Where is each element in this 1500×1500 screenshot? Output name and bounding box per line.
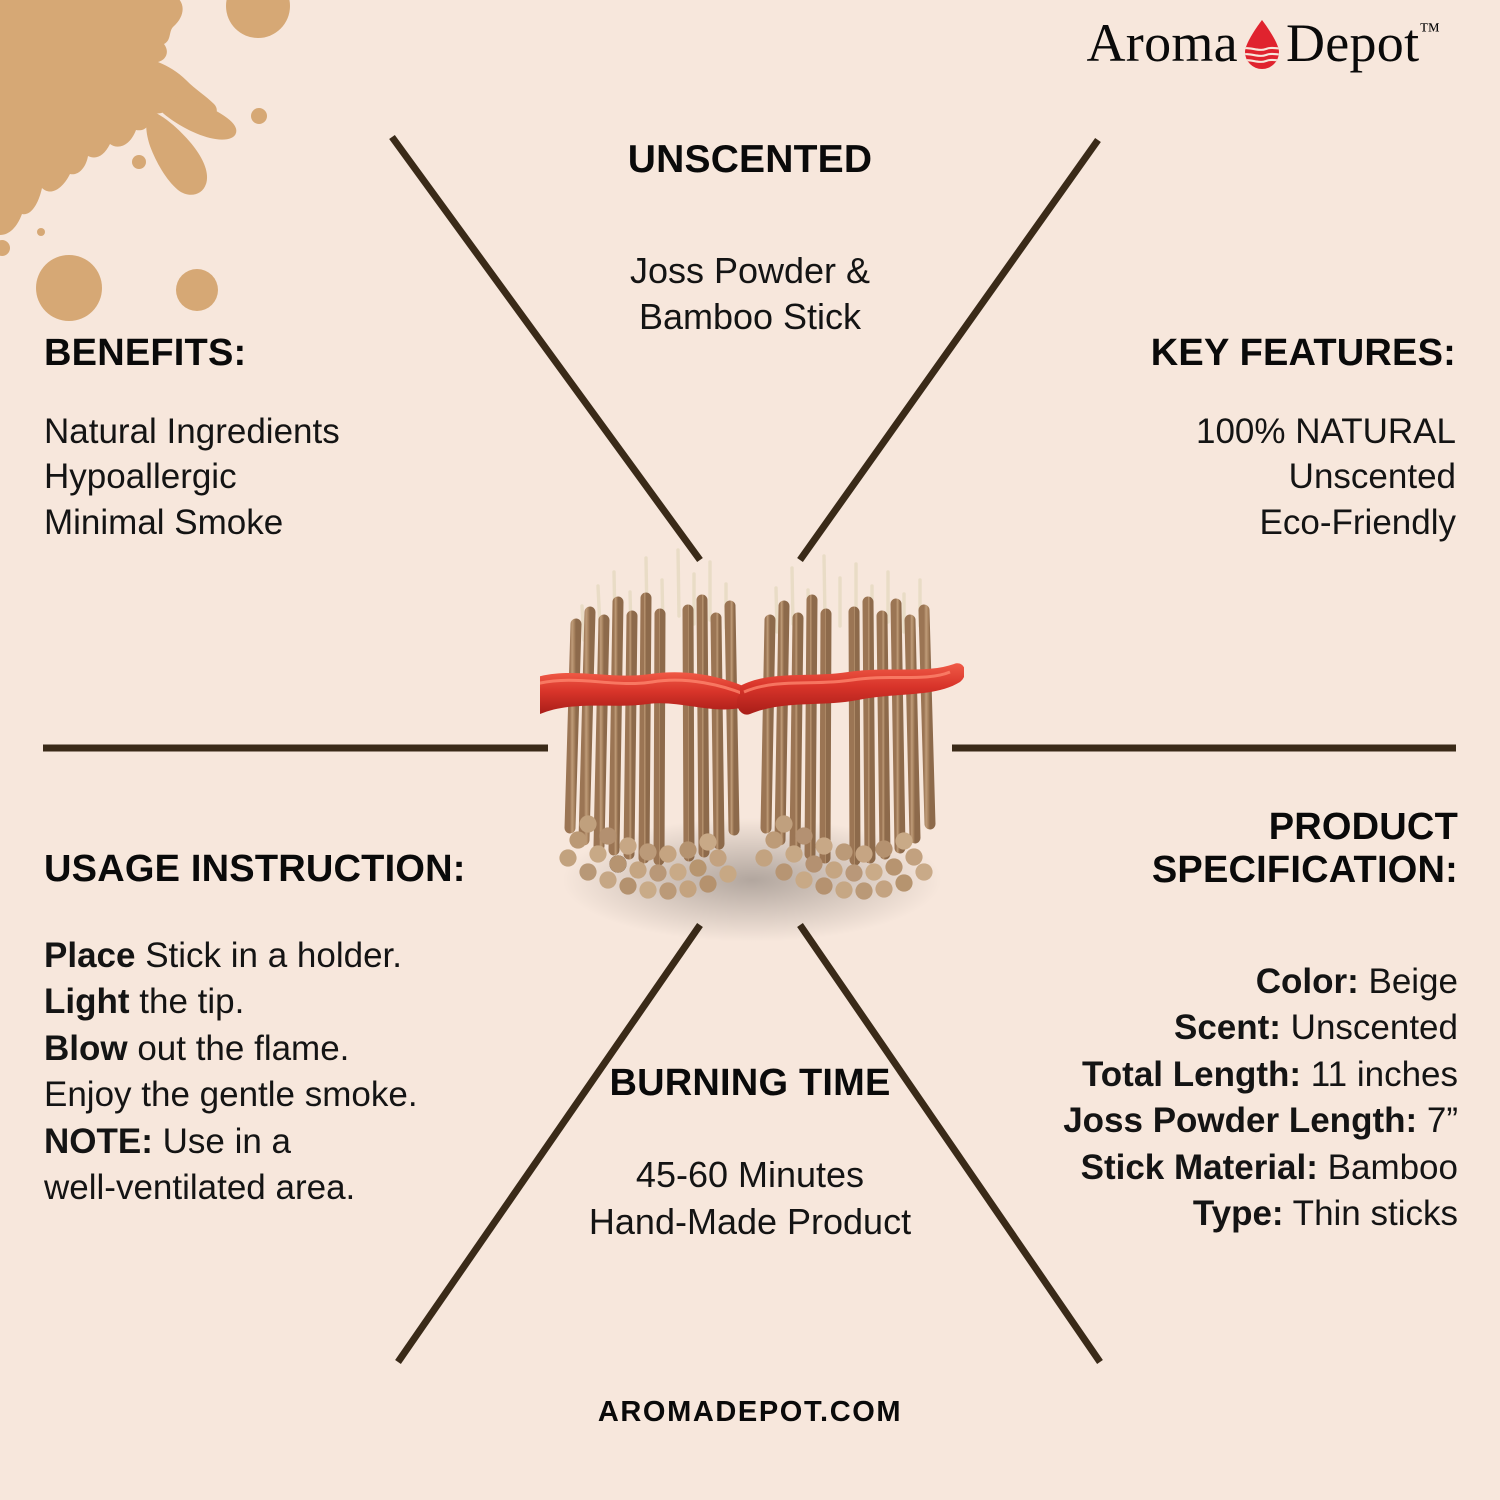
- spec-row-scent: Scent: Unscented: [1063, 1005, 1458, 1052]
- unscented-line-2: Bamboo Stick: [470, 294, 1030, 341]
- usage-step-2-keyword: Light: [44, 982, 130, 1021]
- logo-text-depot: Depot: [1286, 16, 1419, 70]
- usage-step-3-text: out the flame.: [128, 1029, 350, 1068]
- benefits-item-3: Minimal Smoke: [44, 500, 340, 546]
- usage-step-6-text: well-ventilated area.: [44, 1168, 355, 1207]
- usage-step-5: NOTE: Use in a: [44, 1119, 466, 1166]
- key-features-title: KEY FEATURES:: [1151, 332, 1456, 375]
- usage-step-5-text: Use in a: [153, 1122, 291, 1161]
- product-image-incense-bundles: [540, 528, 964, 948]
- spec-label-total-length: Total Length:: [1082, 1055, 1301, 1094]
- section-product-specification: PRODUCT SPECIFICATION: Color: Beige Scen…: [1063, 806, 1458, 1238]
- spec-label-type: Type:: [1193, 1194, 1284, 1233]
- spec-value-type: Thin sticks: [1284, 1194, 1458, 1233]
- logo-text-aroma: Aroma: [1086, 16, 1237, 70]
- product-specification-title: PRODUCT SPECIFICATION:: [1063, 806, 1458, 893]
- spec-row-total-length: Total Length: 11 inches: [1063, 1052, 1458, 1099]
- benefits-item-2: Hypoallergic: [44, 454, 340, 500]
- spec-value-joss-powder-length: 7”: [1417, 1101, 1458, 1140]
- usage-step-4: Enjoy the gentle smoke.: [44, 1072, 466, 1119]
- usage-step-2-text: the tip.: [130, 982, 245, 1021]
- usage-instruction-title: USAGE INSTRUCTION:: [44, 848, 466, 891]
- spec-row-color: Color: Beige: [1063, 959, 1458, 1006]
- infographic-canvas: Aroma Depot ™: [0, 0, 1500, 1500]
- usage-step-1-text: Stick in a holder.: [135, 936, 402, 975]
- section-unscented: UNSCENTED Joss Powder & Bamboo Stick: [470, 138, 1030, 341]
- usage-step-6: well-ventilated area.: [44, 1165, 466, 1212]
- trademark-symbol: ™: [1419, 20, 1440, 41]
- usage-step-1: Place Stick in a holder.: [44, 933, 466, 980]
- key-features-item-3: Eco-Friendly: [1151, 500, 1456, 546]
- usage-step-2: Light the tip.: [44, 979, 466, 1026]
- usage-step-3: Blow out the flame.: [44, 1026, 466, 1073]
- burning-time-title: BURNING TIME: [470, 1062, 1030, 1105]
- usage-step-4-text: Enjoy the gentle smoke.: [44, 1075, 418, 1114]
- spec-row-joss-powder-length: Joss Powder Length: 7”: [1063, 1098, 1458, 1145]
- section-benefits: BENEFITS: Natural Ingredients Hypoallerg…: [44, 332, 340, 545]
- key-features-item-1: 100% NATURAL: [1151, 409, 1456, 455]
- spec-label-joss-powder-length: Joss Powder Length:: [1063, 1101, 1417, 1140]
- spec-row-type: Type: Thin sticks: [1063, 1191, 1458, 1238]
- product-specification-title-line-1: PRODUCT: [1063, 806, 1458, 849]
- spec-value-color: Beige: [1359, 962, 1458, 1001]
- key-features-item-2: Unscented: [1151, 454, 1456, 500]
- benefits-title: BENEFITS:: [44, 332, 340, 375]
- benefits-item-1: Natural Ingredients: [44, 409, 340, 455]
- unscented-line-1: Joss Powder &: [470, 248, 1030, 295]
- spec-value-stick-material: Bamboo: [1318, 1148, 1458, 1187]
- usage-step-3-keyword: Blow: [44, 1029, 128, 1068]
- spec-row-stick-material: Stick Material: Bamboo: [1063, 1145, 1458, 1192]
- spec-label-stick-material: Stick Material:: [1081, 1148, 1318, 1187]
- section-usage-instruction: USAGE INSTRUCTION: Place Stick in a hold…: [44, 848, 466, 1212]
- spec-value-total-length: 11 inches: [1301, 1055, 1458, 1094]
- spec-value-scent: Unscented: [1281, 1008, 1458, 1047]
- usage-step-1-keyword: Place: [44, 936, 135, 975]
- burning-time-line-2: Hand-Made Product: [470, 1198, 1030, 1246]
- section-key-features: KEY FEATURES: 100% NATURAL Unscented Eco…: [1151, 332, 1456, 545]
- paint-splatter-decoration: [0, 0, 340, 340]
- usage-note-keyword: NOTE:: [44, 1122, 153, 1161]
- footer-website[interactable]: AROMADEPOT.COM: [0, 1396, 1500, 1429]
- red-droplet-icon: [1242, 18, 1282, 70]
- brand-logo: Aroma Depot ™: [1086, 16, 1440, 70]
- section-burning-time: BURNING TIME 45-60 Minutes Hand-Made Pro…: [470, 1062, 1030, 1246]
- unscented-title: UNSCENTED: [470, 138, 1030, 182]
- product-specification-title-line-2: SPECIFICATION:: [1063, 849, 1458, 892]
- burning-time-line-1: 45-60 Minutes: [470, 1151, 1030, 1199]
- spec-label-scent: Scent:: [1174, 1008, 1281, 1047]
- spec-label-color: Color:: [1256, 962, 1359, 1001]
